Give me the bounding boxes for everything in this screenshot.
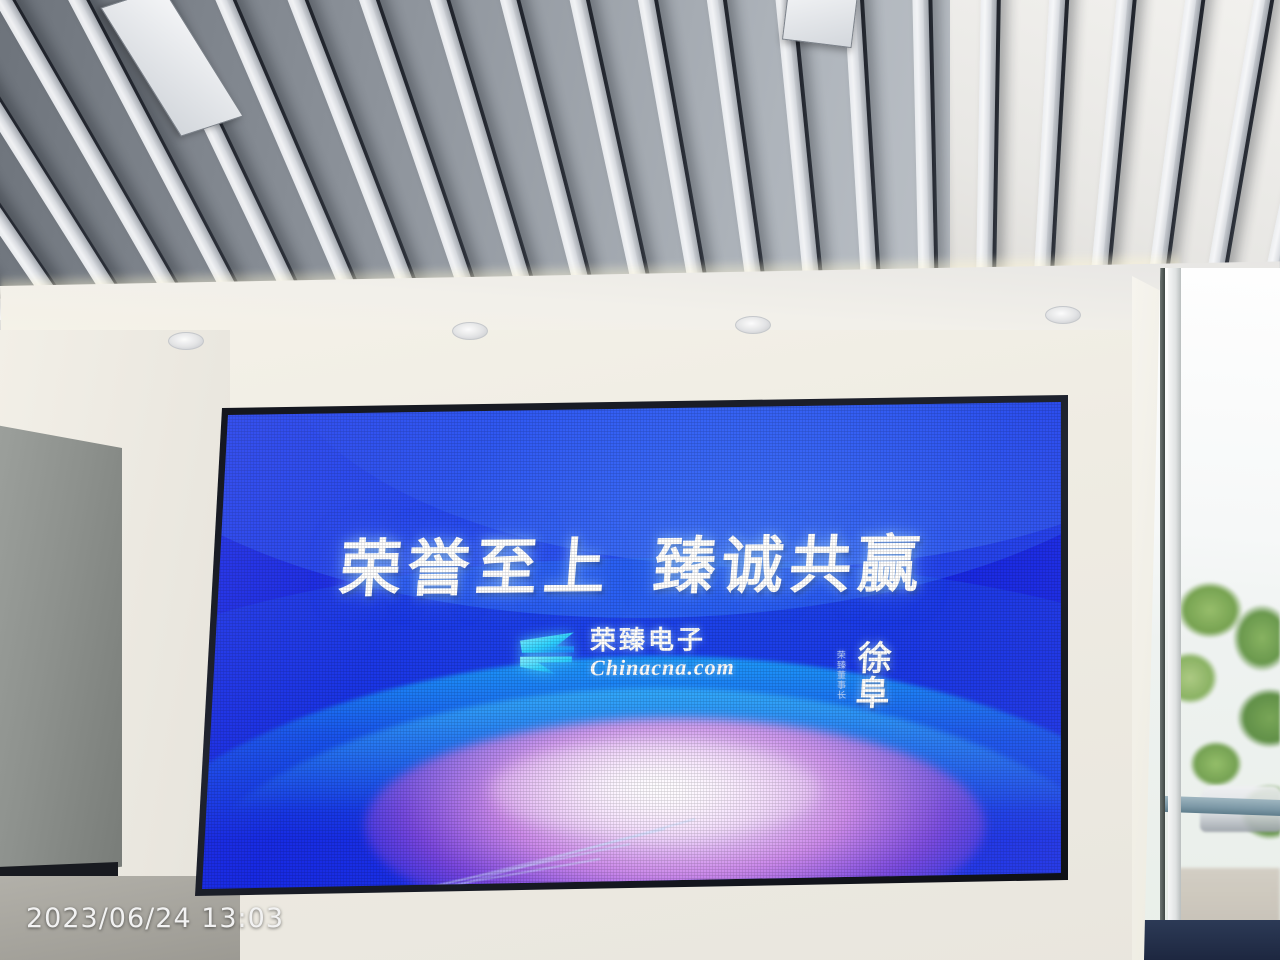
timestamp-overlay: 2023/06/24 13:03 xyxy=(26,903,284,934)
recessed-downlight xyxy=(452,322,488,340)
window-mullion xyxy=(1168,268,1181,960)
window-sill xyxy=(1144,920,1280,960)
recessed-downlight xyxy=(735,316,771,334)
photo-scene: 荣誉至上臻诚共赢 荣臻电子 Chinacna. xyxy=(0,0,1280,960)
doorway-opening xyxy=(0,425,122,885)
screen-glare xyxy=(190,388,1076,900)
exterior-window xyxy=(1144,268,1280,960)
window-frame-edge xyxy=(1160,268,1165,960)
screen-surface[interactable]: 荣誉至上臻诚共赢 荣臻电子 Chinacna. xyxy=(190,388,1076,900)
ceiling-access-panel-2 xyxy=(782,0,858,48)
recessed-downlight xyxy=(168,332,204,350)
led-video-wall[interactable]: 荣誉至上臻诚共赢 荣臻电子 Chinacna. xyxy=(190,388,1076,900)
recessed-downlight xyxy=(1045,306,1081,324)
